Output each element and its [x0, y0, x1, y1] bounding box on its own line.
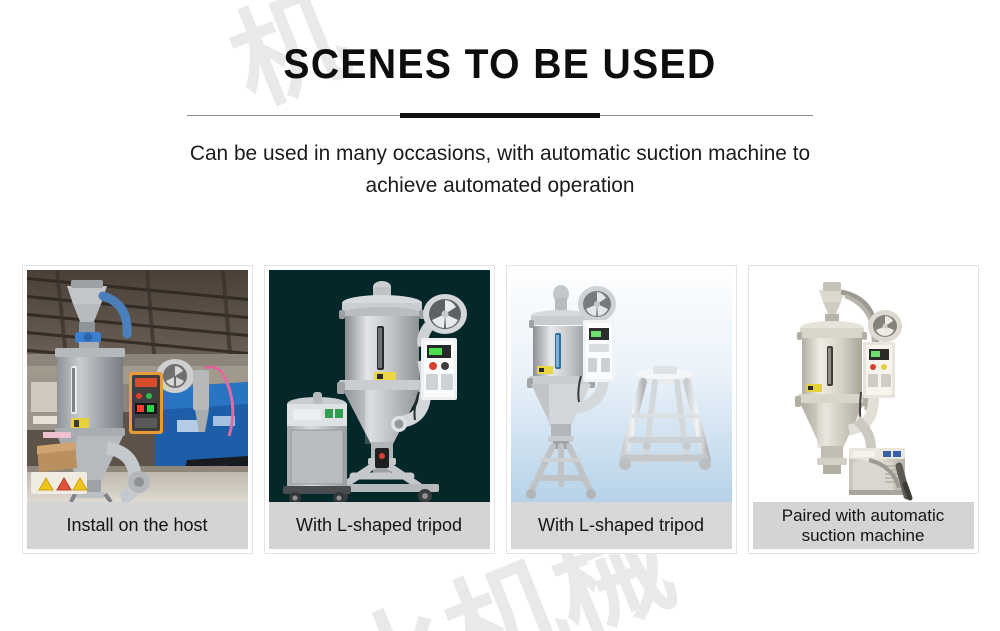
- scene-card[interactable]: Install on the host: [22, 265, 253, 554]
- page-subtitle: Can be used in many occasions, with auto…: [161, 137, 840, 201]
- scene-card-list: Install on the host: [0, 265, 1000, 554]
- scene-card[interactable]: Paired with automaticsuction machine: [748, 265, 979, 554]
- page-header: SCENES TO BE USED Can be used in many oc…: [0, 0, 1000, 201]
- scene-card-caption: With L-shaped tripod: [269, 502, 490, 549]
- scene-card[interactable]: With L-shaped tripod: [264, 265, 495, 554]
- scene-photo-install-on-host: [27, 270, 248, 502]
- divider-accent-bar: [400, 113, 600, 118]
- scene-card-caption-text: Paired with automaticsuction machine: [776, 506, 951, 546]
- page-root: SCENES TO BE USED Can be used in many oc…: [0, 0, 1000, 201]
- scene-card-caption-text: Install on the host: [60, 515, 213, 536]
- title-divider: [187, 113, 813, 119]
- scene-photo-l-tripod-pair: [511, 270, 732, 502]
- scene-card-caption: Paired with automaticsuction machine: [753, 502, 974, 549]
- scene-card-caption: With L-shaped tripod: [511, 502, 732, 549]
- scene-card[interactable]: With L-shaped tripod: [506, 265, 737, 554]
- scene-card-caption: Install on the host: [27, 502, 248, 549]
- scene-photo-auto-suction: [753, 270, 974, 502]
- scene-photo-l-tripod-dark: [269, 270, 490, 502]
- page-title: SCENES TO BE USED: [35, 40, 965, 88]
- scene-card-caption-text: With L-shaped tripod: [290, 515, 468, 536]
- scene-card-caption-text: With L-shaped tripod: [532, 515, 710, 536]
